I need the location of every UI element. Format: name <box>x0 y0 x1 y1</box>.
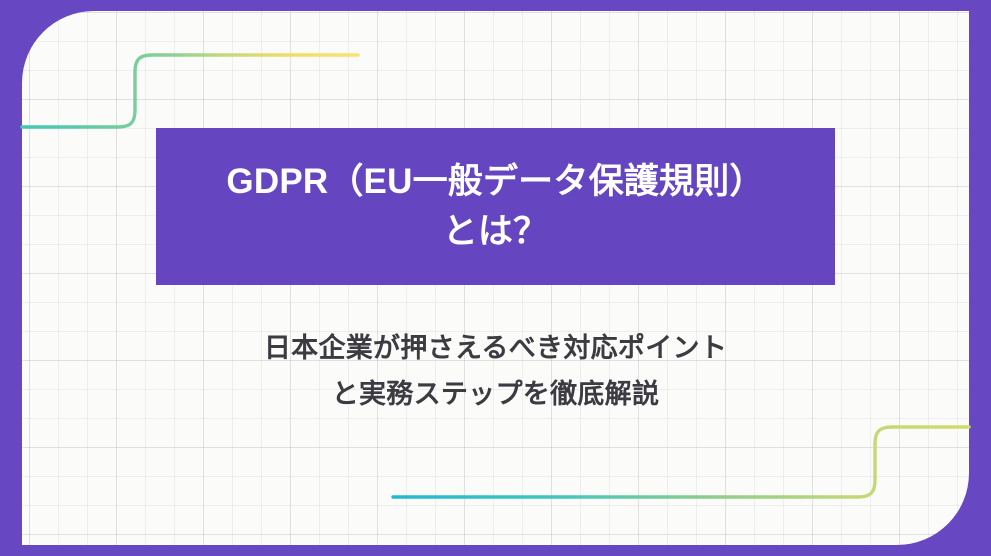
page-title: GDPR（EU一般データ保護規則） とは？ <box>226 157 764 256</box>
slide-canvas: GDPR（EU一般データ保護規則） とは？ 日本企業が押さえるべき対応ポイント … <box>0 0 991 556</box>
page-subtitle: 日本企業が押さえるべき対応ポイント と実務ステップを徹底解説 <box>156 325 835 418</box>
subtitle-block: 日本企業が押さえるべき対応ポイント と実務ステップを徹底解説 <box>156 325 835 418</box>
title-band: GDPR（EU一般データ保護規則） とは？ <box>156 128 835 285</box>
